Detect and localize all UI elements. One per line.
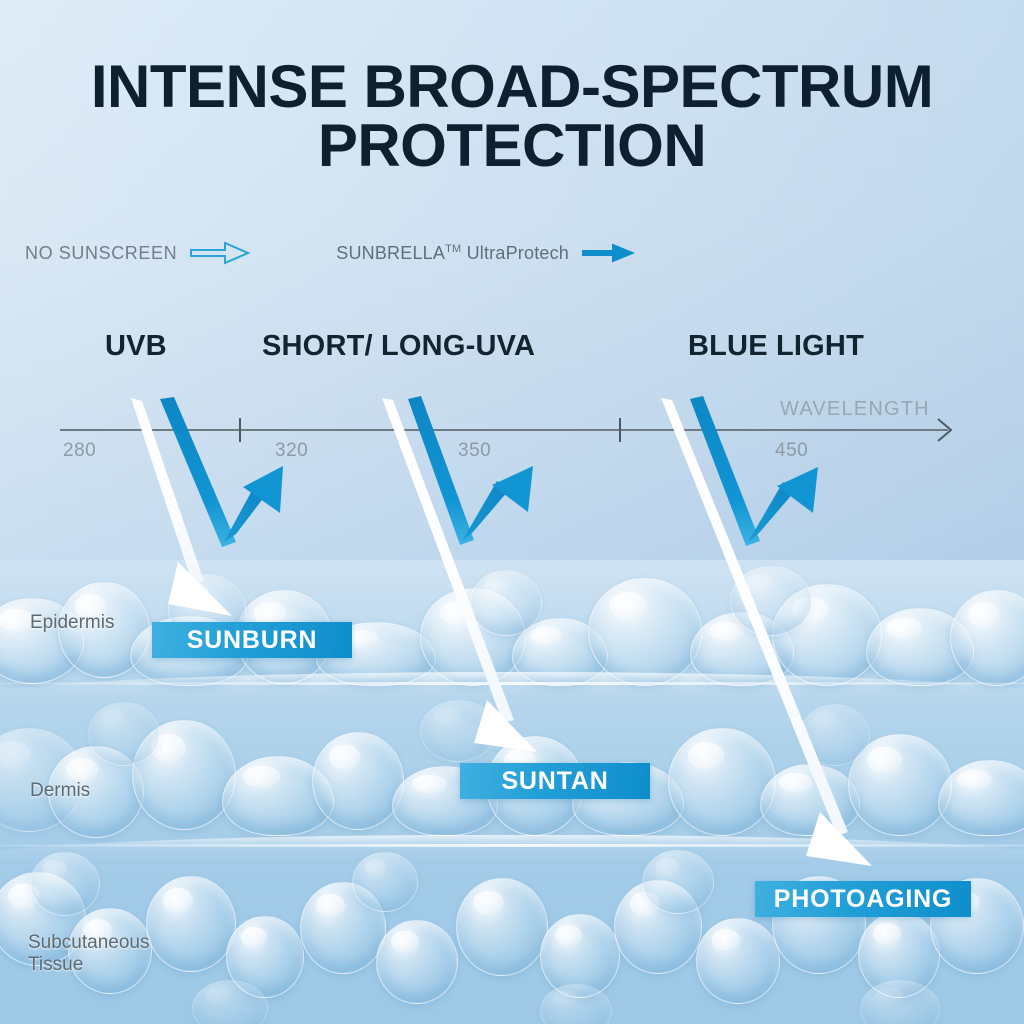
page-title-line-2: PROTECTION [0,117,1024,176]
outline-arrow-right-icon [189,240,251,266]
band-label-blue-light: BLUE LIGHT [688,330,864,363]
legend-brand-name: SUNBRELLA [336,243,445,263]
effect-badge-sunburn: SUNBURN [152,622,352,658]
infographic-canvas: INTENSE BROAD-SPECTRUM PROTECTION NO SUN… [0,0,1024,1024]
trademark-symbol: TM [445,243,461,255]
legend-brand-suffix: UltraProtech [461,243,569,263]
legend: NO SUNSCREEN SUNBRELLATM UltraProtech [25,240,637,266]
page-title: INTENSE BROAD-SPECTRUM PROTECTION [0,58,1024,176]
skin-layer-label-epidermis: Epidermis [30,612,114,634]
band-label-uva: SHORT/ LONG-UVA [262,330,535,363]
skin-layer-label-dermis: Dermis [30,780,90,802]
epidermis-boundary-line [0,682,1024,685]
band-label-uvb: UVB [105,330,167,363]
legend-item-sunbrella: SUNBRELLATM UltraProtech [336,241,637,265]
skin-layer-label-subcutaneous: Subcutaneous Tissue [28,932,150,976]
legend-label-sunbrella: SUNBRELLATM UltraProtech [336,243,569,264]
page-title-line-1: INTENSE BROAD-SPECTRUM [91,53,933,120]
effect-badge-photoaging: PHOTOAGING [755,881,971,917]
effect-badge-suntan: SUNTAN [460,763,650,799]
legend-label-no-sunscreen: NO SUNSCREEN [25,243,177,264]
solid-arrow-right-icon [581,241,637,265]
dermis-boundary-line [0,844,1024,847]
legend-item-no-sunscreen: NO SUNSCREEN [25,240,251,266]
